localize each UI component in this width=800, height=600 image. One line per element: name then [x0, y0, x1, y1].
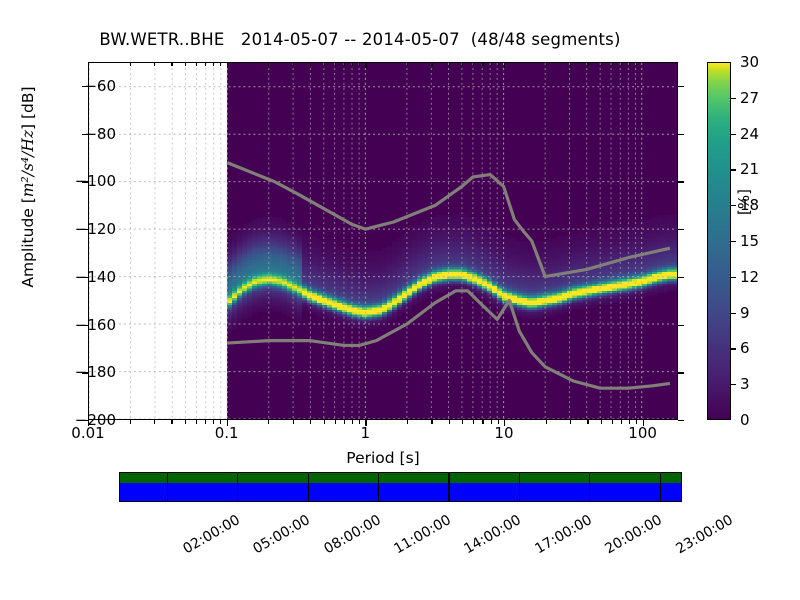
x-minor-tick: [407, 420, 408, 424]
x-tick-mark: [227, 420, 228, 426]
x-minor-tick: [601, 62, 602, 66]
x-tick-mark: [365, 420, 366, 426]
x-minor-tick: [587, 62, 588, 66]
y-tick-mark: [82, 134, 88, 135]
x-minor-tick: [498, 62, 499, 66]
x-axis-label: Period [s]: [88, 449, 678, 467]
x-minor-tick: [293, 62, 294, 66]
x-minor-tick: [324, 420, 325, 424]
colorbar-tick-label: 24: [740, 125, 759, 143]
colorbar-tick-label: 21: [740, 160, 759, 178]
colorbar-tick-mark: [731, 169, 736, 170]
x-minor-tick: [293, 420, 294, 424]
x-minor-tick: [171, 420, 172, 424]
time-tick-label: 02:00:00: [180, 512, 242, 557]
ppsd-heatmap: [89, 63, 677, 419]
x-minor-tick: [462, 420, 463, 424]
time-tick-label: 23:00:00: [673, 512, 735, 557]
x-minor-tick: [185, 420, 186, 424]
x-minor-tick: [473, 420, 474, 424]
colorbar-tick-mark: [731, 384, 736, 385]
coverage-tick: [589, 473, 590, 501]
x-tick-mark: [88, 62, 89, 68]
x-tick-mark: [88, 420, 89, 426]
x-minor-tick: [546, 62, 547, 66]
x-minor-tick: [449, 420, 450, 424]
y-tick-label: −180: [75, 363, 116, 381]
x-tick-label: 100: [628, 424, 657, 442]
colorbar-tick-label: 27: [740, 89, 759, 107]
time-tick-label: 11:00:00: [391, 512, 453, 557]
x-tick-label: 1: [361, 424, 371, 442]
x-minor-tick: [449, 62, 450, 66]
y-tick-mark: [678, 277, 684, 278]
x-minor-tick: [185, 62, 186, 66]
colorbar-tick-label: 15: [740, 232, 759, 250]
x-minor-tick: [171, 62, 172, 66]
x-minor-tick: [498, 420, 499, 424]
x-minor-tick: [621, 62, 622, 66]
y-tick-mark: [678, 325, 684, 326]
x-minor-tick: [220, 62, 221, 66]
x-minor-tick: [344, 420, 345, 424]
x-minor-tick: [570, 62, 571, 66]
x-minor-tick: [268, 420, 269, 424]
colorbar-tick-label: 3: [740, 375, 750, 393]
x-minor-tick: [491, 420, 492, 424]
x-minor-tick: [612, 62, 613, 66]
coverage-tick: [378, 473, 379, 501]
x-minor-tick: [310, 62, 311, 66]
x-minor-tick: [196, 62, 197, 66]
data-coverage-bar: [119, 472, 682, 502]
y-tick-mark: [678, 229, 684, 230]
y-tick-mark: [678, 372, 684, 373]
x-minor-tick: [310, 420, 311, 424]
x-minor-tick: [629, 62, 630, 66]
colorbar-tick-label: 0: [740, 411, 750, 429]
x-minor-tick: [636, 420, 637, 424]
colorbar: [707, 62, 731, 420]
x-minor-tick: [196, 420, 197, 424]
colorbar-label: [%]: [735, 189, 753, 215]
x-minor-tick: [220, 420, 221, 424]
psd-coverage-strip: [120, 473, 681, 483]
x-minor-tick: [335, 62, 336, 66]
time-tick-label: 14:00:00: [462, 512, 524, 557]
x-minor-tick: [213, 62, 214, 66]
x-minor-tick: [491, 62, 492, 66]
x-minor-tick: [473, 62, 474, 66]
coverage-tick: [237, 473, 238, 501]
x-minor-tick: [359, 62, 360, 66]
x-minor-tick: [431, 420, 432, 424]
colorbar-tick-mark: [731, 98, 736, 99]
x-minor-tick: [213, 420, 214, 424]
ppsd-plot-area: [88, 62, 678, 420]
coverage-tick: [660, 473, 661, 501]
coverage-tick: [448, 473, 449, 501]
x-minor-tick: [462, 62, 463, 66]
x-tick-mark: [365, 62, 366, 68]
x-minor-tick: [601, 420, 602, 424]
colorbar-tick-mark: [731, 348, 736, 349]
colorbar-tick-label: 12: [740, 268, 759, 286]
x-minor-tick: [344, 62, 345, 66]
x-minor-tick: [352, 62, 353, 66]
x-minor-tick: [546, 420, 547, 424]
y-tick-mark: [678, 420, 684, 421]
x-tick-mark: [643, 62, 644, 68]
x-minor-tick: [629, 420, 630, 424]
x-minor-tick: [205, 420, 206, 424]
y-tick-mark: [82, 181, 88, 182]
y-tick-label: −100: [75, 172, 116, 190]
y-axis-label: Amplitude [m²/s⁴/Hz] [dB]: [19, 37, 37, 337]
y-tick-label: −80: [84, 125, 116, 143]
x-tick-mark: [643, 420, 644, 426]
colorbar-tick-mark: [731, 134, 736, 135]
x-minor-tick: [205, 62, 206, 66]
x-minor-tick: [482, 420, 483, 424]
colorbar-tick-mark: [731, 277, 736, 278]
colorbar-tick-label: 30: [740, 53, 759, 71]
y-tick-mark: [82, 325, 88, 326]
y-tick-label: −120: [75, 220, 116, 238]
x-minor-tick: [130, 420, 131, 424]
x-minor-tick: [570, 420, 571, 424]
y-tick-mark: [82, 372, 88, 373]
y-tick-mark: [82, 229, 88, 230]
x-minor-tick: [587, 420, 588, 424]
y-tick-label: −140: [75, 268, 116, 286]
x-tick-label: 10: [494, 424, 513, 442]
x-minor-tick: [482, 62, 483, 66]
y-tick-mark: [678, 134, 684, 135]
x-minor-tick: [352, 420, 353, 424]
x-minor-tick: [407, 62, 408, 66]
time-tick-label: 08:00:00: [321, 512, 383, 557]
x-minor-tick: [431, 62, 432, 66]
x-minor-tick: [268, 62, 269, 66]
page-title: BW.WETR..BHE 2014-05-07 -- 2014-05-07 (4…: [0, 30, 720, 49]
x-tick-label: 0.01: [71, 424, 104, 442]
x-minor-tick: [154, 62, 155, 66]
time-tick-label: 05:00:00: [251, 512, 313, 557]
colorbar-tick-label: 9: [740, 304, 750, 322]
x-minor-tick: [359, 420, 360, 424]
data-coverage-strip: [120, 483, 681, 501]
x-tick-mark: [504, 420, 505, 426]
colorbar-tick-label: 6: [740, 339, 750, 357]
colorbar-tick-mark: [731, 313, 736, 314]
x-minor-tick: [335, 420, 336, 424]
x-minor-tick: [621, 420, 622, 424]
coverage-tick: [519, 473, 520, 501]
x-minor-tick: [324, 62, 325, 66]
coverage-tick: [308, 473, 309, 501]
x-minor-tick: [154, 420, 155, 424]
y-tick-mark: [678, 181, 684, 182]
y-tick-label: −60: [84, 77, 116, 95]
x-minor-tick: [130, 62, 131, 66]
x-minor-tick: [636, 62, 637, 66]
y-tick-label: −160: [75, 316, 116, 334]
y-tick-mark: [82, 86, 88, 87]
x-tick-mark: [504, 62, 505, 68]
coverage-tick: [167, 473, 168, 501]
time-tick-label: 17:00:00: [532, 512, 594, 557]
y-tick-mark: [82, 277, 88, 278]
time-tick-label: 20:00:00: [603, 512, 665, 557]
x-tick-mark: [227, 62, 228, 68]
colorbar-tick-mark: [731, 241, 736, 242]
x-minor-tick: [612, 420, 613, 424]
y-tick-mark: [678, 86, 684, 87]
x-tick-label: 0.1: [215, 424, 239, 442]
